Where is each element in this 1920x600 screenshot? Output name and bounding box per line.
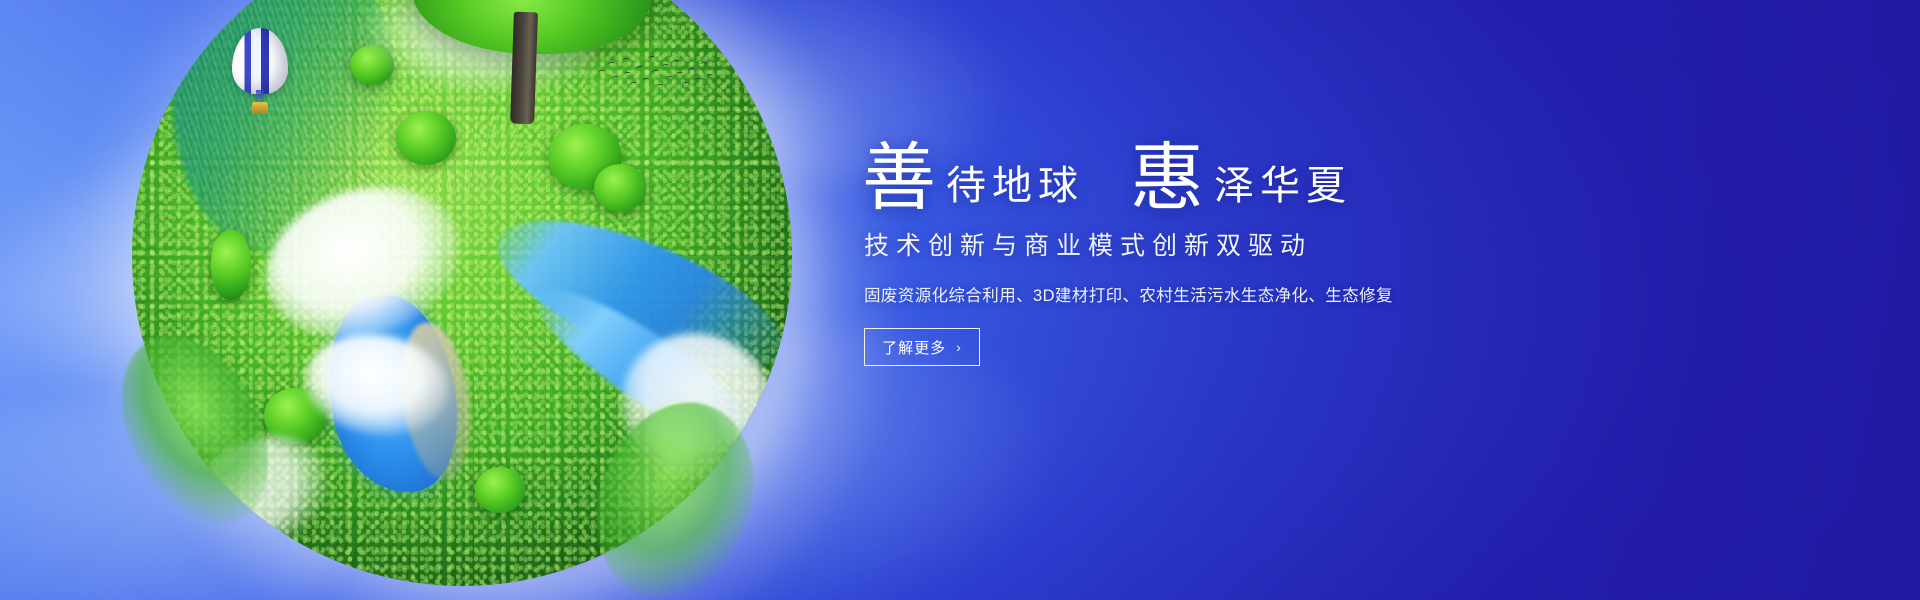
bird-icon [608, 62, 615, 67]
page-title: 善 待地球 惠 泽华夏 [862, 122, 1862, 214]
bird-icon [694, 78, 701, 83]
bird-icon [622, 58, 629, 63]
learn-more-button[interactable]: 了解更多 › [864, 328, 980, 366]
bird-icon [636, 66, 643, 71]
bird-icon [630, 82, 637, 87]
banner-description: 固废资源化综合利用、3D建材打印、农村生活污水生态净化、生态修复 [864, 282, 1862, 306]
headline-rest-1: 待地球 [936, 166, 1084, 214]
bird-icon [672, 60, 679, 65]
bird-icon [642, 78, 649, 83]
tree-trunk [510, 12, 538, 125]
headline-char-2: 惠 [1130, 142, 1204, 216]
tree-bush [594, 164, 646, 212]
bird-icon [656, 84, 663, 89]
bird-icon [706, 74, 713, 79]
bird-icon [598, 70, 605, 75]
bird-icon [652, 70, 659, 75]
bird-icon [676, 72, 683, 77]
bird-icon [612, 76, 619, 81]
hero-banner: 善 待地球 惠 泽华夏 技术创新与商业模式创新双驱动 固废资源化综合利用、3D建… [0, 0, 1920, 600]
hot-air-balloon-icon [232, 28, 288, 120]
tree-bush [211, 230, 251, 300]
banner-copy: 善 待地球 惠 泽华夏 技术创新与商业模式创新双驱动 固废资源化综合利用、3D建… [862, 122, 1862, 366]
bird-icon [682, 82, 689, 87]
bird-icon [700, 62, 707, 67]
headline-rest-2: 泽华夏 [1204, 166, 1352, 214]
balloon-envelope [232, 28, 288, 94]
bird-flock-icon [596, 52, 716, 94]
bird-icon [624, 72, 631, 77]
bird-icon [688, 68, 695, 73]
bird-icon [662, 64, 669, 69]
bird-icon [666, 76, 673, 81]
bird-icon [648, 56, 655, 61]
learn-more-label: 了解更多 [882, 337, 946, 358]
headline-char-1: 善 [862, 142, 936, 216]
banner-subtitle: 技术创新与商业模式创新双驱动 [864, 226, 1862, 262]
balloon-neck [256, 90, 264, 102]
chevron-right-icon: › [956, 340, 962, 354]
balloon-basket [252, 102, 268, 114]
